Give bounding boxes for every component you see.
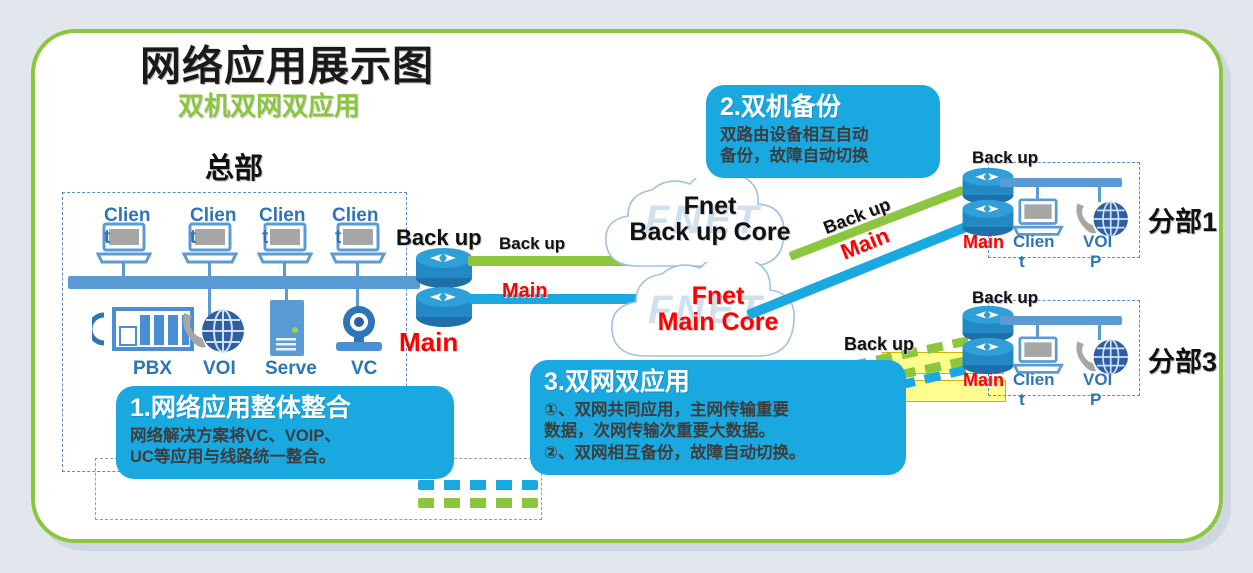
hq-router-main-label: Main	[399, 327, 458, 358]
client-label-3-line2: t	[262, 227, 268, 249]
branch-1-router-main-label: Main	[963, 232, 1004, 253]
branch-1-client-label-line2: t	[1019, 252, 1025, 272]
callout-1-body: 网络解决方案将VC、VOIP、 UC等应用与线路统一整合。	[130, 426, 440, 470]
vc-label: VC	[351, 358, 377, 380]
branch3-backup-link-label: Back up	[844, 334, 914, 355]
server-label: Serve	[265, 358, 317, 380]
branch-3-voip-label-line2: P	[1090, 390, 1101, 410]
callout-1-title: 1.网络应用整体整合	[130, 394, 440, 424]
client-2-drop	[208, 262, 211, 280]
backup-core-line2: Back up Core	[600, 219, 820, 245]
diagram-canvas: 网络应用展示图 双机双网双应用 总部 Clien t Clien t Clien…	[0, 0, 1253, 573]
router-icon	[414, 246, 474, 290]
branch-1-voip-label-line1: VOI	[1083, 232, 1112, 252]
client-label-1-line2: t	[104, 227, 110, 249]
client-label-4-line2: t	[335, 227, 341, 249]
client-3-drop	[283, 262, 286, 280]
branch-3-router-main-label: Main	[963, 370, 1004, 391]
callout-3[interactable]: 3.双网双应用 ①、双网共同应用，主网传输重要 数据，次网传输次重要大数据。 ②…	[530, 360, 906, 475]
voip-icon	[178, 305, 250, 357]
branch-3-client-label-line1: Clien	[1013, 370, 1055, 390]
branch-1-voip-label-line2: P	[1090, 252, 1101, 272]
backup-core-label: Fnet Back up Core	[600, 193, 820, 246]
client-label-2-line1: Clien	[190, 205, 236, 227]
branch-3-client-label-line2: t	[1019, 390, 1025, 410]
branch-1-router-backup-label: Back up	[972, 148, 1038, 168]
page-title: 网络应用展示图	[140, 32, 434, 92]
branch-1-title: 分部1	[1148, 200, 1217, 239]
pbx-label: PBX	[133, 358, 172, 380]
client-label-1-line1: Clien	[104, 205, 150, 227]
callout-3-body: ①、双网共同应用，主网传输重要 数据，次网传输次重要大数据。 ②、双网相互备份，…	[544, 400, 892, 466]
client-label-2-line2: t	[190, 227, 196, 249]
vc-camera-icon	[330, 305, 388, 355]
callout-3-title: 3.双网双应用	[544, 368, 892, 398]
hq-main-link-label: Main	[502, 280, 548, 303]
backup-core-line1: Fnet	[600, 193, 820, 219]
server-icon	[266, 300, 308, 358]
legend-backup-sample	[418, 498, 538, 508]
callout-2-title: 2.双机备份	[720, 93, 926, 123]
headquarters-title: 总部	[205, 145, 263, 187]
callout-2-body: 双路由设备相互自动 备份，故障自动切换	[720, 125, 926, 169]
page-subtitle: 双机双网双应用	[178, 86, 360, 123]
branch-3-bus	[1000, 316, 1122, 325]
voip-label: VOI	[203, 358, 236, 380]
branch-1-client-label-line1: Clien	[1013, 232, 1055, 252]
client-label-4-line1: Clien	[332, 205, 378, 227]
branch-1-bus	[1000, 178, 1122, 187]
router-icon	[414, 285, 474, 329]
hq-backup-link-label: Back up	[499, 234, 565, 254]
branch-3-title: 分部3	[1148, 340, 1217, 379]
client-4-drop	[356, 262, 359, 280]
client-label-3-line1: Clien	[259, 205, 305, 227]
branch-3-voip-label-line1: VOI	[1083, 370, 1112, 390]
callout-2[interactable]: 2.双机备份 双路由设备相互自动 备份，故障自动切换	[706, 85, 940, 178]
client-1-drop	[122, 262, 125, 280]
callout-1[interactable]: 1.网络应用整体整合 网络解决方案将VC、VOIP、 UC等应用与线路统一整合。	[116, 386, 454, 479]
legend-main-sample	[418, 480, 538, 490]
main-core-line2: Main Core	[608, 309, 828, 335]
headquarters-bus	[68, 276, 420, 289]
